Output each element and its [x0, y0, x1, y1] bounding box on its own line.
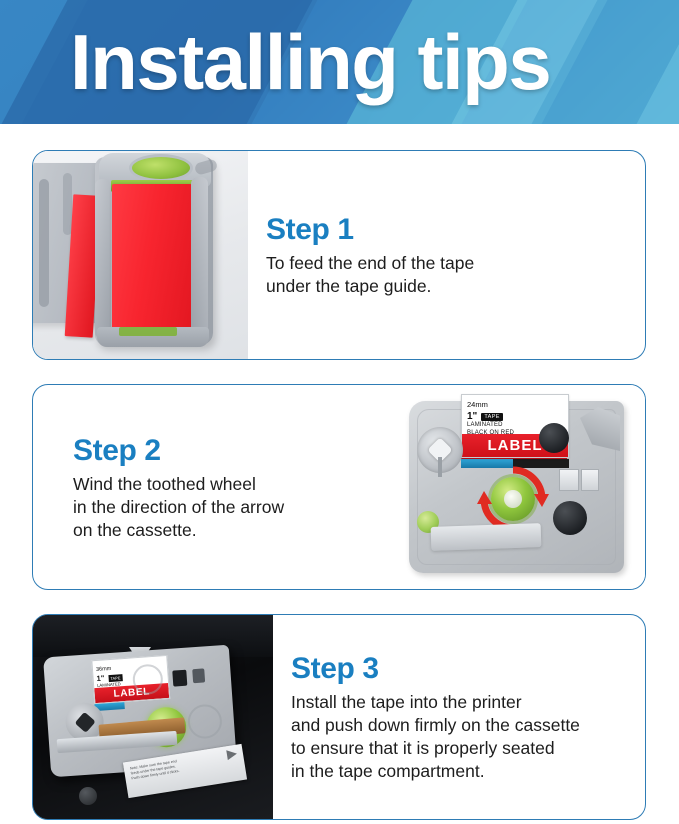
step-2-photo: 24mm 1" TAPE LAMINATED BLACK ON RED LABE… — [395, 385, 645, 589]
step-card-3: 36mm 1" TAPE LAMINATED BLACK ON RED LABE… — [32, 614, 646, 820]
printer-rib — [39, 179, 49, 307]
cassette-slot — [559, 469, 579, 491]
cassette-ring — [187, 703, 223, 739]
step-3-photo: 36mm 1" TAPE LAMINATED BLACK ON RED LABE… — [33, 615, 273, 819]
label-size: 24mm — [467, 397, 563, 411]
tape-guide-post-left — [95, 179, 111, 339]
step-1-title: Step 1 — [266, 212, 633, 248]
tape-guide-post-right — [191, 177, 208, 337]
step-2-text-block: Step 2 Wind the toothed wheel in the dir… — [33, 433, 395, 542]
tape-spool-pin — [438, 457, 442, 477]
step-3-title: Step 3 — [291, 651, 633, 687]
cassette-slot — [192, 668, 205, 683]
step-card-2: Step 2 Wind the toothed wheel in the dir… — [32, 384, 646, 590]
step-2-body: Wind the toothed wheel in the direction … — [73, 473, 383, 542]
green-hub-icon — [129, 154, 193, 182]
page-title: Installing tips — [70, 12, 550, 112]
cassette-dark-hub — [539, 423, 569, 453]
step-3-body: Install the tape into the printer and pu… — [291, 691, 633, 783]
cassette-dark-hub — [553, 501, 587, 535]
label-size-unit: mm — [102, 666, 112, 673]
cassette-slot — [581, 469, 599, 491]
label-brand: LABEL — [488, 437, 543, 454]
page-header-banner: Installing tips — [0, 0, 679, 124]
cassette-slot — [172, 670, 187, 687]
red-tape-sheet — [112, 184, 192, 329]
sticker-arrow-icon — [226, 749, 237, 760]
step-2-title: Step 2 — [73, 433, 383, 469]
step-card-1: Step 1 To feed the end of the tape under… — [32, 150, 646, 360]
label-size-unit: mm — [475, 400, 488, 409]
label-tape-tag: TAPE — [481, 413, 503, 421]
step-3-text-block: Step 3 Install the tape into the printer… — [273, 651, 645, 783]
cassette-tongue — [431, 523, 542, 551]
cassette-foot-green — [119, 327, 177, 336]
label-inch: 1" — [467, 411, 477, 422]
step-1-body: To feed the end of the tape under the ta… — [266, 252, 633, 298]
step-1-text-block: Step 1 To feed the end of the tape under… — [248, 212, 645, 298]
printer-knob — [79, 787, 97, 805]
step-1-photo — [33, 151, 248, 359]
label-inch-row: 1" TAPE — [467, 411, 563, 422]
